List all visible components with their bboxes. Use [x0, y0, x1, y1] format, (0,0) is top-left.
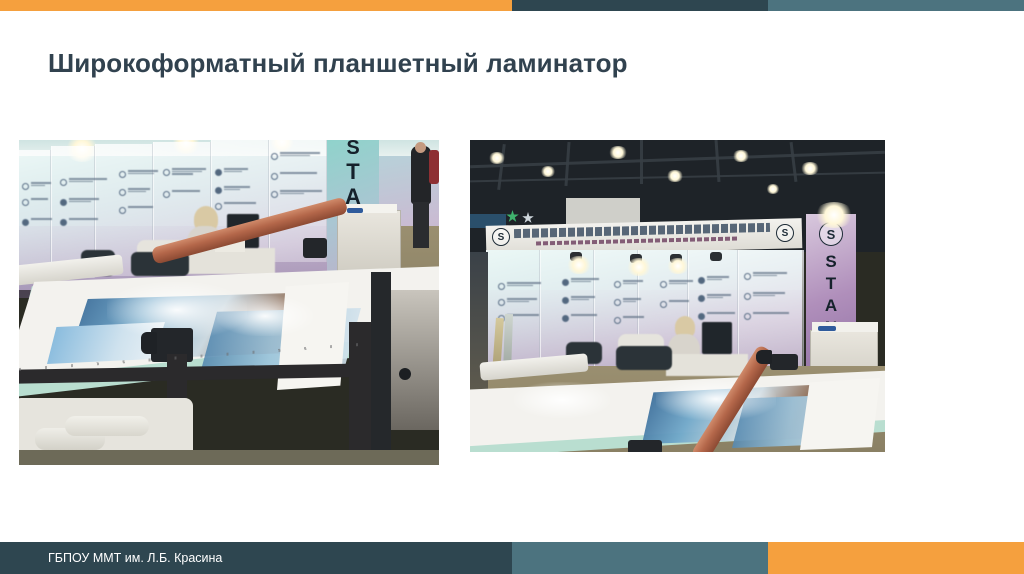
bullet-dot-icon: [215, 203, 222, 210]
bullet-text-lines: [69, 198, 99, 202]
page-title: Широкоформатный планшетный ламинатор: [48, 48, 948, 79]
panel-bullet: [22, 218, 52, 226]
bullet-text-lines: [31, 218, 52, 220]
ceiling-lamp-icon: [608, 146, 628, 159]
panel-bullet: [614, 280, 643, 288]
panel-bullet: [562, 296, 595, 304]
bullet-dot-icon: [215, 187, 222, 194]
bullet-text-lines: [31, 182, 51, 186]
bullet-dot-icon: [271, 191, 278, 198]
bullet-text-lines: [280, 172, 317, 174]
panel-bullet: [614, 316, 644, 324]
panel-bullet: [60, 178, 107, 186]
bullet-text-lines: [623, 280, 643, 284]
bullet-dot-icon: [60, 219, 67, 226]
bullet-dot-icon: [271, 173, 278, 180]
bullet-text-lines: [571, 314, 597, 316]
bullet-dot-icon: [498, 299, 505, 306]
bullet-text-lines: [280, 152, 320, 156]
panel-bullet: [119, 170, 158, 178]
bullet-dot-icon: [119, 207, 126, 214]
panel-bullet: [744, 272, 787, 280]
panel-bullet: [498, 282, 541, 290]
bullet-text-lines: [623, 298, 641, 302]
ceiling-lamp-icon: [540, 166, 556, 177]
bullet-text-lines: [507, 282, 541, 286]
panel-bullet: [614, 298, 641, 306]
footer-segment-orange: [768, 542, 1024, 574]
bullet-dot-icon: [22, 183, 29, 190]
bullet-text-lines: [128, 206, 153, 208]
visitor-accent: [429, 150, 439, 184]
panel-bullet: [744, 312, 789, 320]
wall-spotlight-glow: [666, 258, 690, 274]
bullet-text-lines: [224, 168, 248, 172]
bullet-text-lines: [623, 316, 644, 318]
bullet-text-lines: [224, 186, 250, 190]
photo-booth-overview: S S: [470, 140, 885, 452]
photo-left-scene: S T A N: [19, 140, 439, 465]
wall-spotlight-glow: [566, 256, 592, 274]
panel-bullet: [119, 206, 153, 214]
bullet-text-lines: [128, 188, 150, 192]
bullet-dot-icon: [163, 191, 170, 198]
bullet-dot-icon: [698, 295, 705, 302]
panel-bullet: [22, 182, 51, 190]
panel-bullet: [60, 218, 98, 226]
panel-bullet: [271, 152, 320, 160]
bullet-text-lines: [753, 312, 789, 314]
panel-bullet: [215, 202, 256, 210]
bullet-text-lines: [31, 198, 48, 200]
wall-spotlight-glow: [626, 258, 652, 276]
bullet-dot-icon: [562, 297, 569, 304]
booth-panel: [19, 150, 51, 278]
booth-monitor: [702, 322, 732, 354]
roller-end-bracket: [628, 440, 662, 452]
photo-bottom-floor: [19, 450, 439, 465]
bullet-dot-icon: [60, 179, 67, 186]
footer-segment-teal: [512, 542, 768, 574]
panel-bullet: [163, 190, 200, 198]
bullet-dot-icon: [215, 169, 222, 176]
top-bar-segment-orange: [0, 0, 512, 11]
panel-bullet: [271, 190, 322, 198]
roller-hook: [141, 332, 157, 354]
bullet-dot-icon: [660, 281, 667, 288]
bullet-text-lines: [172, 190, 200, 192]
visitor-legs: [413, 202, 429, 248]
bullet-text-lines: [571, 296, 595, 300]
booth-brand-letter: S: [346, 140, 359, 158]
counter-blue-item: [347, 208, 363, 213]
bullet-text-lines: [753, 272, 787, 276]
bullet-dot-icon: [562, 315, 569, 322]
bullet-dot-icon: [698, 277, 705, 284]
bullet-text-lines: [224, 202, 256, 204]
bullet-dot-icon: [119, 189, 126, 196]
ceiling-lamp-icon: [488, 152, 506, 164]
top-accent-bar: [0, 0, 1024, 11]
panel-bullet: [744, 292, 785, 300]
ceiling-lamp-icon: [666, 170, 684, 182]
bullet-dot-icon: [744, 273, 751, 280]
photo-laminator-closeup: S T A N: [19, 140, 439, 465]
bullet-dot-icon: [562, 279, 569, 286]
bullet-text-lines: [507, 298, 537, 302]
bullet-dot-icon: [163, 169, 170, 176]
roller-end-bracket: [770, 354, 798, 370]
footer-institution-name: ГБПОУ ММТ им. Л.Б. Красина: [48, 551, 222, 565]
bullet-dot-icon: [744, 313, 751, 320]
top-bar-segment-dark-teal: [512, 0, 768, 11]
bullet-dot-icon: [22, 199, 29, 206]
bullet-text-lines: [280, 190, 322, 194]
booth-brand-letter: A: [825, 297, 837, 314]
panel-bullet: [215, 168, 248, 176]
bullet-dot-icon: [498, 283, 505, 290]
panel-bullet: [562, 314, 597, 322]
bullet-text-lines: [669, 300, 689, 302]
bullet-text-lines: [707, 294, 731, 298]
booth-counter: [337, 210, 401, 278]
bullet-dot-icon: [744, 293, 751, 300]
panel-bullet: [698, 312, 735, 320]
bullet-dot-icon: [614, 281, 621, 288]
banner-logo-left-icon: S: [492, 228, 510, 246]
bullet-dot-icon: [119, 171, 126, 178]
ceiling-lamp-icon: [800, 162, 820, 175]
ceiling-lamp-icon: [732, 150, 750, 162]
bullet-text-lines: [707, 276, 729, 280]
bullet-text-lines: [753, 292, 785, 296]
footer-segment-dark-teal: ГБПОУ ММТ им. Л.Б. Красина: [0, 542, 512, 574]
bullet-text-lines: [707, 312, 735, 314]
panel-bullet: [215, 186, 250, 194]
pillar-spotlight-glow: [814, 202, 854, 228]
roller-hook: [756, 350, 772, 364]
bullet-dot-icon: [614, 317, 621, 324]
booth-brand-letter: S: [825, 253, 836, 270]
panel-bullet: [698, 276, 729, 284]
panel-bullet: [562, 278, 599, 286]
panel-bullet: [698, 294, 731, 302]
panel-bullet: [22, 198, 48, 206]
bullet-text-lines: [571, 278, 599, 282]
bullet-dot-icon: [60, 199, 67, 206]
visitor-silhouette: [411, 146, 431, 204]
bullet-text-lines: [172, 168, 206, 175]
booth-brand-letter: T: [826, 275, 836, 292]
bullet-dot-icon: [660, 301, 667, 308]
panel-bullet: [119, 188, 150, 196]
bullet-dot-icon: [22, 219, 29, 226]
ceiling-truss: [640, 140, 643, 184]
bullet-dot-icon: [698, 313, 705, 320]
panel-bullet: [498, 298, 537, 306]
machine-dark-edge: [371, 272, 391, 450]
booth-brand-letter: T: [346, 161, 359, 183]
material-roll: [65, 416, 149, 436]
roller-end-bracket: [303, 238, 327, 258]
panel-bullet: [660, 300, 689, 308]
panel-bullet: [60, 198, 99, 206]
top-bar-segment-teal: [768, 0, 1024, 11]
printed-sheet-white-strip: [800, 378, 880, 450]
panel-bullet: [271, 172, 317, 180]
bullet-text-lines: [69, 218, 98, 220]
bullet-text-lines: [69, 178, 107, 182]
machine-knob: [399, 368, 411, 380]
panel-bullet: [660, 280, 693, 288]
panel-bullet: [163, 168, 206, 176]
photo-right-scene: S S: [470, 140, 885, 452]
bullet-text-lines: [128, 170, 158, 174]
ceiling-lamp-icon: [766, 184, 780, 194]
visitor-head: [415, 142, 426, 153]
equipment-bag: [616, 346, 672, 370]
bullet-text-lines: [669, 280, 693, 284]
footer-bar: ГБПОУ ММТ им. Л.Б. Красина: [0, 542, 1024, 574]
bullet-dot-icon: [614, 299, 621, 306]
banner-logo-right-icon: S: [776, 224, 794, 242]
booth-desk: [666, 354, 748, 376]
bullet-dot-icon: [271, 153, 278, 160]
counter-blue-item: [818, 326, 836, 331]
wall-spotlight-icon: [710, 252, 722, 261]
